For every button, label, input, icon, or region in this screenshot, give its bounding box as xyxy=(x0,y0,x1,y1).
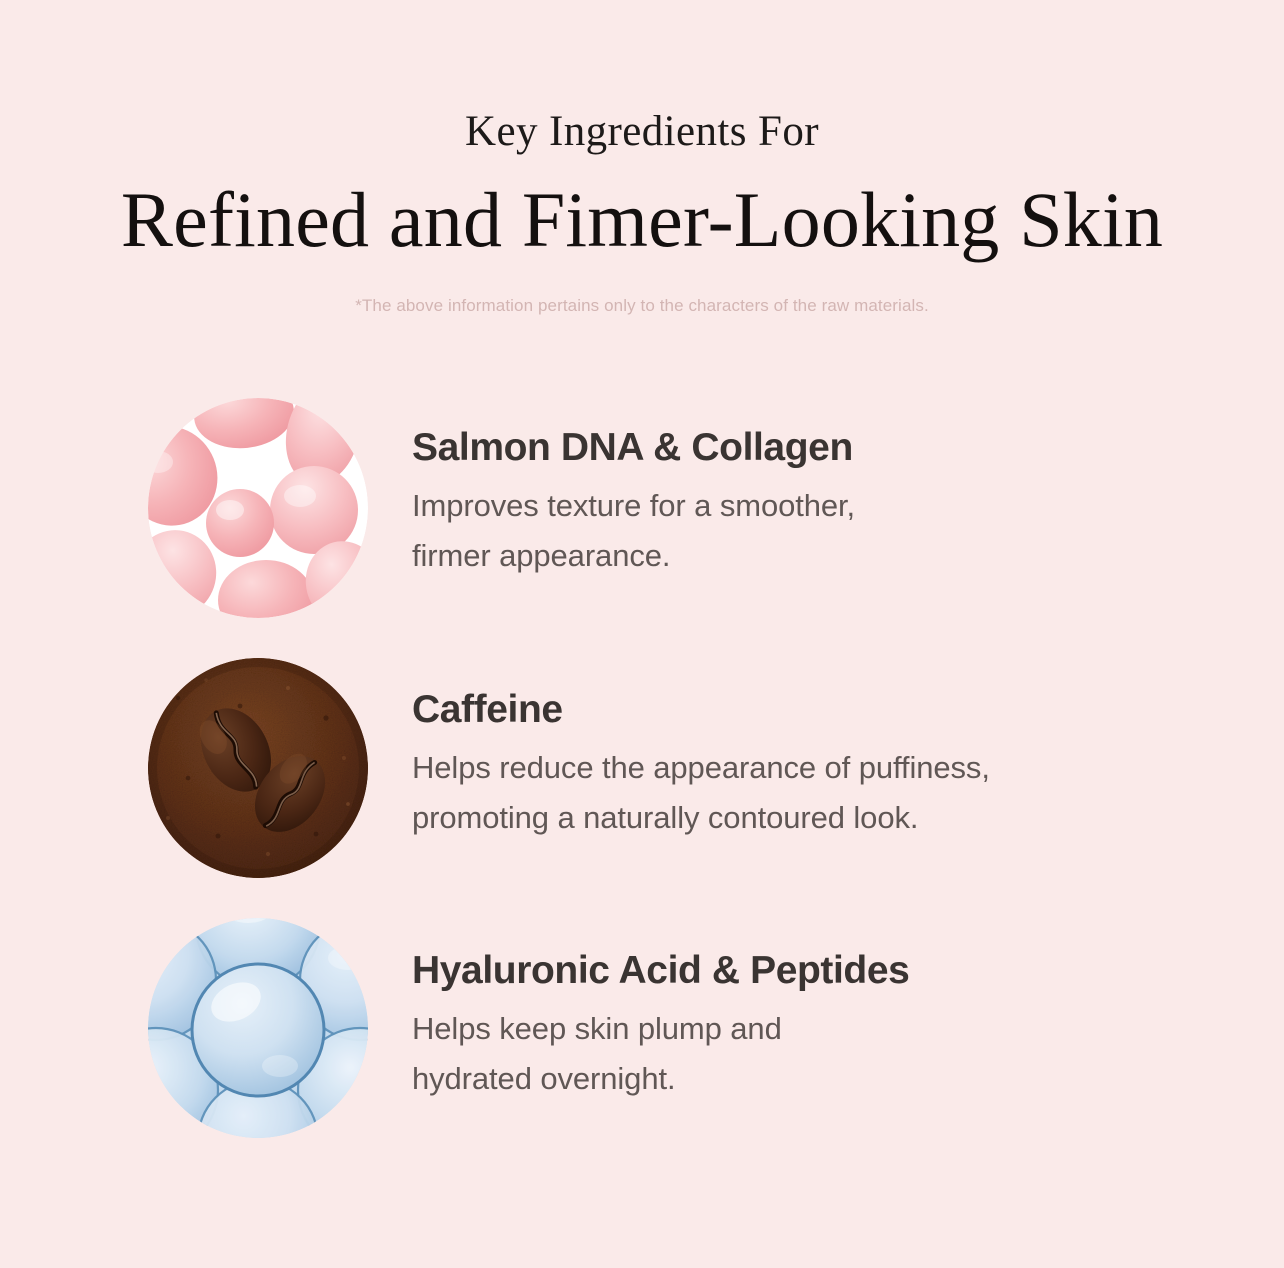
blue-hyaluronic-spheres-photo xyxy=(148,918,368,1138)
ingredient-description: Improves texture for a smoother, firmer … xyxy=(412,467,1222,581)
ingredient-title: Hyaluronic Acid & Peptides xyxy=(412,918,1222,990)
description-line: Improves texture for a smoother, xyxy=(412,481,1222,531)
ingredient-list: Salmon DNA & Collagen Improves texture f… xyxy=(0,398,1284,1178)
list-item: Salmon DNA & Collagen Improves texture f… xyxy=(0,398,1284,618)
page-title: Refined and Fimer-Looking Skin xyxy=(0,181,1284,259)
ingredient-title: Caffeine xyxy=(412,658,1222,729)
list-item: Caffeine Helps reduce the appearance of … xyxy=(0,658,1284,878)
ingredients-infographic: Key Ingredients For Refined and Fimer-Lo… xyxy=(0,0,1284,1268)
ingredient-copy: Caffeine Helps reduce the appearance of … xyxy=(412,658,1222,843)
description-line: Helps reduce the appearance of puffiness… xyxy=(412,743,1222,793)
ingredient-title: Salmon DNA & Collagen xyxy=(412,398,1222,467)
ingredient-description: Helps reduce the appearance of puffiness… xyxy=(412,729,1222,843)
coffee-grounds-beans-photo xyxy=(148,658,368,878)
ingredient-copy: Hyaluronic Acid & Peptides Helps keep sk… xyxy=(412,918,1222,1104)
ingredient-copy: Salmon DNA & Collagen Improves texture f… xyxy=(412,398,1222,581)
description-line: promoting a naturally contoured look. xyxy=(412,793,1222,843)
description-line: Helps keep skin plump and xyxy=(412,1004,1222,1054)
ingredient-description: Helps keep skin plump and hydrated overn… xyxy=(412,990,1222,1104)
description-line: hydrated overnight. xyxy=(412,1054,1222,1104)
disclaimer-text: *The above information pertains only to … xyxy=(0,297,1284,314)
list-item: Hyaluronic Acid & Peptides Helps keep sk… xyxy=(0,918,1284,1138)
eyebrow-text: Key Ingredients For xyxy=(0,110,1284,153)
header: Key Ingredients For Refined and Fimer-Lo… xyxy=(0,0,1284,314)
pink-collagen-capsules-photo xyxy=(148,398,368,618)
description-line: firmer appearance. xyxy=(412,531,1222,581)
